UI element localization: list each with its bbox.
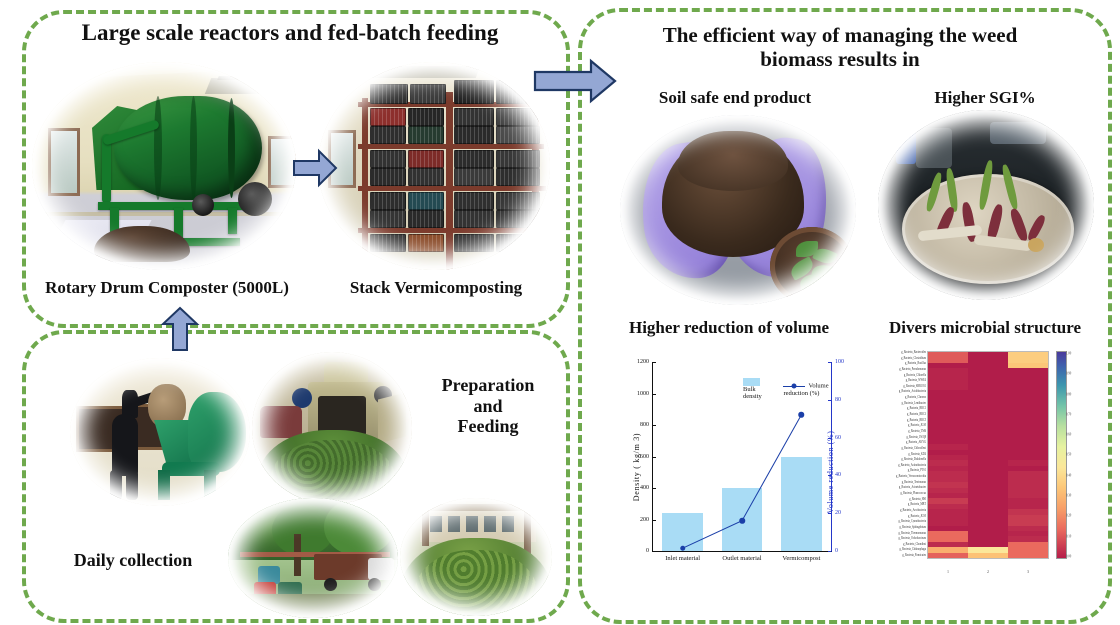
photo-rotary-drum-composter — [32, 62, 296, 270]
heatmap-colorbar-tick: 0.90 — [1066, 372, 1084, 377]
heatmap-colorbar-tick: 0.80 — [1066, 392, 1084, 397]
heatmap-colorbar-tick: 0.60 — [1066, 432, 1084, 437]
heatmap-colorbar-tick: 1.00 — [1066, 351, 1084, 356]
heatmap-row-label: g_Bacteria_Chloroflexi — [872, 447, 926, 451]
heatmap-row-label: g_Bacteria_Firmicutes — [872, 555, 926, 559]
heatmap-row-label: g_Bacteria_Planococcus — [872, 492, 926, 496]
chart-y2-tick: 60 — [831, 435, 841, 441]
heatmap-cell — [928, 553, 968, 558]
chart-bulk-density-volume-reduction: Density ( kg/m 3) Volume reduction (%) B… — [600, 348, 868, 586]
heatmap-row-label: g_Bacteria_PTS1 — [872, 470, 926, 474]
heatmap-column-label: 2 — [968, 569, 1008, 574]
heatmap-row-label: g_Bacteria_AKYG — [872, 442, 926, 446]
heatmap-colorbar-tick: 0.00 — [1066, 554, 1084, 559]
caption-higher-sgi: Higher SGI% — [890, 88, 1080, 108]
photo-stack-vermicomposting — [318, 62, 550, 270]
chart-x-tick: Outlet material — [722, 555, 761, 562]
caption-soil-safe-end-product: Soil safe end product — [610, 88, 860, 108]
heatmap-row-label: g_Bacteria_Cyanobacteria — [872, 521, 926, 525]
heatmap-grid — [928, 352, 1048, 558]
chart-x-tick: Vermicompost — [782, 555, 820, 562]
heatmap-colorbar-tick: 0.20 — [1066, 514, 1084, 519]
arrow-composter-to-stack — [292, 148, 338, 188]
heatmap-row-label: g_Bacteria_Acidobacteria — [872, 391, 926, 395]
heatmap-colorbar-tick: 0.40 — [1066, 473, 1084, 478]
heatmap-column-label: 3 — [1008, 569, 1048, 574]
heatmap-colorbar-tick: 0.50 — [1066, 453, 1084, 458]
photo-germination-petri-dish — [878, 110, 1094, 300]
heatmap-row-label: g_Bacteria_JG30 — [872, 425, 926, 429]
heatmap-column-labels: 123 — [928, 569, 1048, 574]
heatmap-colorbar-ticks: 1.000.900.800.700.600.500.400.300.200.10… — [1066, 352, 1084, 558]
heatmap-cell — [968, 553, 1008, 558]
heatmap-row-label: g_Bacteria_Sphingobium — [872, 526, 926, 530]
label-preparation-line2: and — [418, 396, 558, 417]
heatmap-row-label: g_Bacteria_Dokdonella — [872, 459, 926, 463]
heatmap-row-label: g_Bacteria_Bacillus — [872, 363, 926, 367]
heatmap-row-label: g_Bacteria_TM6 — [872, 430, 926, 434]
photo-shredder-weed-pile — [252, 352, 412, 504]
chart-y-tick: 1200 — [637, 359, 653, 365]
heatmap-row-label: g_Bacteria_Acinetobacter — [872, 487, 926, 491]
caption-rotary-drum-composter: Rotary Drum Composter (5000L) — [22, 278, 312, 298]
chart-y-tick: 400 — [640, 485, 653, 491]
label-daily-collection: Daily collection — [48, 550, 218, 571]
heatmap-cell — [1008, 553, 1048, 558]
chart-y2-tick: 100 — [831, 359, 844, 365]
photo-weed-heap — [400, 498, 552, 616]
arrow-left-to-right — [533, 58, 617, 104]
chart-y2-tick: 20 — [831, 510, 841, 516]
heatmap-row-label: g_Bacteria_Verrucomicrobia — [872, 476, 926, 480]
panel-title-right-line1: The efficient way of managing the weed — [590, 24, 1090, 48]
heatmap-row-label: g_Bacteria_Pseudomonas — [872, 368, 926, 372]
chart-y2-tick: 0 — [831, 548, 838, 554]
heatmap-colorbar-tick: 0.70 — [1066, 412, 1084, 417]
heatmap-row-label: g_Bacteria_Thermomonas — [872, 532, 926, 536]
caption-stack-vermicomposting: Stack Vermicomposting — [320, 278, 552, 298]
heatmap-microbial-structure: g_Bacteria_Bacteroidesg_Bacteria_Clostri… — [872, 348, 1088, 586]
chart-y-tick: 200 — [640, 517, 653, 523]
photo-compost-in-gloved-hands — [620, 115, 856, 305]
heatmap-colorbar — [1057, 352, 1066, 558]
chart-line-point — [799, 412, 805, 418]
heatmap-row-labels: g_Bacteria_Bacteroidesg_Bacteria_Clostri… — [872, 352, 926, 558]
heatmap-row-label: g_Bacteria_Chromo — [872, 397, 926, 401]
label-preparation-and-feeding: Preparation and Feeding — [418, 375, 558, 437]
arrow-bottom-to-top — [160, 306, 200, 352]
heatmap-row-label: g_Bacteria_WWE4 — [872, 380, 926, 384]
heatmap-row-label: g_Bacteria_Arcobacteria — [872, 509, 926, 513]
chart-y-tick: 600 — [640, 454, 653, 460]
heatmap-row — [928, 553, 1048, 558]
chart-x-tick: Inlet material — [665, 555, 700, 562]
heatmap-row-label: g_Bacteria_Chitinophaga — [872, 549, 926, 553]
chart-y2-tick: 40 — [831, 472, 841, 478]
panel-title-right-line2: biomass results in — [590, 48, 1090, 72]
chart-y-tick: 800 — [640, 422, 653, 428]
caption-divers-microbial-structure: Divers microbial structure — [872, 318, 1098, 338]
photo-feeding-shredder — [70, 358, 250, 506]
label-preparation-line3: Feeding — [418, 416, 558, 437]
heatmap-row-label: g_Bacteria_BRC3 — [872, 414, 926, 418]
heatmap-colorbar-tick: 0.30 — [1066, 493, 1084, 498]
heatmap-column-label: 1 — [928, 569, 968, 574]
chart-line-point — [680, 545, 686, 551]
label-preparation-line1: Preparation — [418, 375, 558, 396]
caption-higher-reduction-of-volume: Higher reduction of volume — [594, 318, 864, 338]
heatmap-row-label: g_Bacteria_BRC1 — [872, 408, 926, 412]
photo-daily-collection-truck — [228, 498, 398, 618]
chart-y2-tick: 80 — [831, 397, 841, 403]
heatmap-row-label: g_Bacteria_Ochrobactrum — [872, 538, 926, 542]
panel-title-left: Large scale reactors and fed-batch feedi… — [30, 20, 550, 46]
panel-title-right: The efficient way of managing the weed b… — [590, 24, 1090, 71]
chart-line-point — [739, 518, 745, 524]
heatmap-colorbar-tick: 0.10 — [1066, 534, 1084, 539]
heatmap-row-label: g_Bacteria_MBT — [872, 504, 926, 508]
chart-plot-area: Bulk density Volume reduction (%) 020040… — [652, 362, 832, 552]
chart-y-tick: 0 — [646, 548, 653, 554]
chart-y-tick: 1000 — [637, 391, 653, 397]
heatmap-row-label: g_Bacteria_Bacteroides — [872, 351, 926, 355]
